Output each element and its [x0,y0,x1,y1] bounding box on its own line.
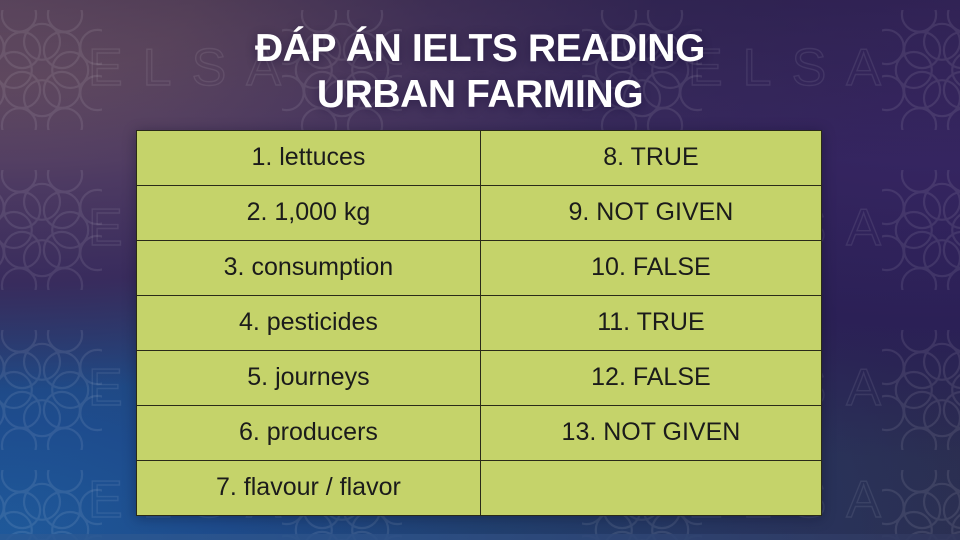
table-row: 5. journeys12. FALSE [137,351,822,406]
bottom-accent-bar [0,534,960,540]
page-title: ĐÁP ÁN IELTS READING URBAN FARMING [0,26,960,118]
answer-cell-left: 7. flavour / flavor [137,461,481,516]
answer-cell-right: 13. NOT GIVEN [480,406,821,461]
table-row: 1. lettuces8. TRUE [137,131,822,186]
answer-cell-left: 5. journeys [137,351,481,406]
answer-cell-left: 6. producers [137,406,481,461]
title-line-2: URBAN FARMING [0,72,960,118]
answer-cell-right: 8. TRUE [480,131,821,186]
answer-cell-left: 2. 1,000 kg [137,186,481,241]
answer-cell-right: 10. FALSE [480,241,821,296]
answer-cell-left: 1. lettuces [137,131,481,186]
answer-cell-right: 11. TRUE [480,296,821,351]
table-row: 6. producers13. NOT GIVEN [137,406,822,461]
answer-cell-right: 12. FALSE [480,351,821,406]
table-row: 7. flavour / flavor [137,461,822,516]
table-row: 2. 1,000 kg9. NOT GIVEN [137,186,822,241]
table-row: 3. consumption10. FALSE [137,241,822,296]
answers-table: 1. lettuces8. TRUE2. 1,000 kg9. NOT GIVE… [136,130,822,516]
slide-canvas: ELSAELSAELSAELSAELSAELSAELSAELSA ĐÁP ÁN … [0,0,960,540]
answers-table-container: 1. lettuces8. TRUE2. 1,000 kg9. NOT GIVE… [136,130,822,516]
answer-cell-right [480,461,821,516]
answer-cell-right: 9. NOT GIVEN [480,186,821,241]
answer-cell-left: 3. consumption [137,241,481,296]
table-row: 4. pesticides11. TRUE [137,296,822,351]
answer-cell-left: 4. pesticides [137,296,481,351]
title-line-1: ĐÁP ÁN IELTS READING [0,26,960,72]
